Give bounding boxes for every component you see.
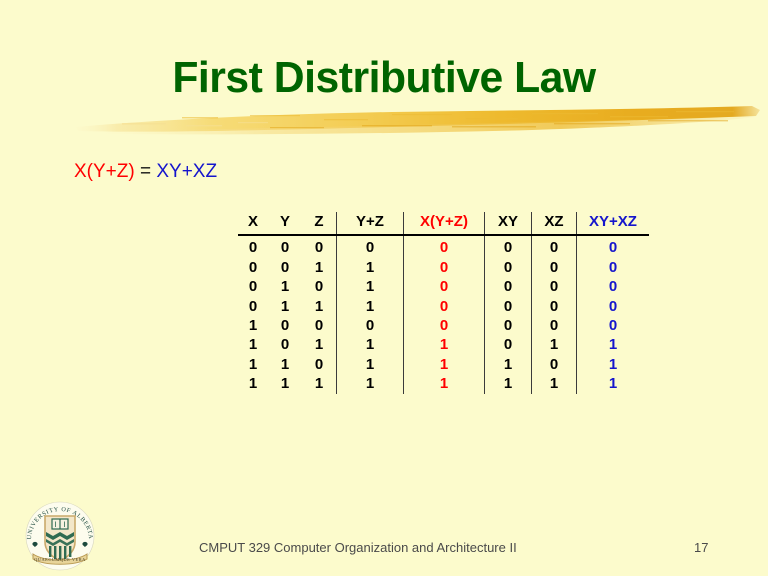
- cell-y-plus-z: 1: [337, 374, 404, 393]
- cell-x: 0: [238, 277, 268, 296]
- cell-xy: 0: [485, 277, 532, 296]
- table-header-row: X Y Z Y+Z X(Y+Z) XY XZ XY+XZ: [238, 212, 649, 235]
- university-of-alberta-crest-icon: UNIVERSITY OF ALBERTA: [19, 500, 101, 572]
- cell-z: 0: [302, 235, 337, 257]
- cell-x: 1: [238, 335, 268, 354]
- cell-xy: 0: [485, 235, 532, 257]
- cell-x: 0: [238, 235, 268, 257]
- title-block: First Distributive Law: [0, 55, 768, 101]
- cell-x: 0: [238, 297, 268, 316]
- cell-xy: 0: [485, 297, 532, 316]
- equation-right-side: XY+XZ: [156, 161, 217, 182]
- table-body: 0000000000110000010100000111000010000000…: [238, 235, 649, 393]
- cell-y-plus-z: 0: [337, 235, 404, 257]
- cell-xy: 0: [485, 316, 532, 335]
- cell-xz: 0: [532, 277, 577, 296]
- cell-y: 1: [268, 297, 302, 316]
- slide-page-number: 17: [694, 540, 708, 555]
- gold-brush-stroke-decoration: [62, 100, 762, 142]
- cell-x: 0: [238, 258, 268, 277]
- cell-xz: 0: [532, 258, 577, 277]
- table-row: 00000000: [238, 235, 649, 257]
- cell-y-plus-z: 1: [337, 277, 404, 296]
- cell-y: 1: [268, 277, 302, 296]
- cell-x-times-y-plus-z: 0: [404, 297, 485, 316]
- table-header-xy-plus-xz: XY+XZ: [577, 212, 650, 235]
- cell-y-plus-z: 0: [337, 316, 404, 335]
- cell-y: 0: [268, 235, 302, 257]
- cell-z: 1: [302, 258, 337, 277]
- table-header-y-plus-z: Y+Z: [337, 212, 404, 235]
- cell-xy-plus-xz: 0: [577, 258, 650, 277]
- cell-x-times-y-plus-z: 0: [404, 258, 485, 277]
- table-header-xz: XZ: [532, 212, 577, 235]
- cell-xy-plus-xz: 0: [577, 297, 650, 316]
- cell-xy: 1: [485, 374, 532, 393]
- table-row: 10111011: [238, 335, 649, 354]
- cell-y: 1: [268, 374, 302, 393]
- cell-xy-plus-xz: 1: [577, 355, 650, 374]
- distributive-law-equation: X(Y+Z) = XY+XZ: [74, 161, 217, 183]
- cell-x-times-y-plus-z: 1: [404, 335, 485, 354]
- cell-xz: 0: [532, 235, 577, 257]
- cell-x: 1: [238, 316, 268, 335]
- table-row: 01010000: [238, 277, 649, 296]
- cell-z: 1: [302, 297, 337, 316]
- cell-xy-plus-xz: 0: [577, 277, 650, 296]
- equation-left-side: X(Y+Z): [74, 161, 135, 182]
- cell-x: 1: [238, 355, 268, 374]
- table-row: 10000000: [238, 316, 649, 335]
- cell-x-times-y-plus-z: 1: [404, 374, 485, 393]
- cell-x-times-y-plus-z: 0: [404, 316, 485, 335]
- cell-xy-plus-xz: 1: [577, 335, 650, 354]
- cell-y: 1: [268, 355, 302, 374]
- table-header-x: X: [238, 212, 268, 235]
- table-row: 01110000: [238, 297, 649, 316]
- page-title: First Distributive Law: [12, 55, 757, 101]
- truth-table: X Y Z Y+Z X(Y+Z) XY XZ XY+XZ 00000000001…: [238, 212, 649, 394]
- cell-z: 0: [302, 355, 337, 374]
- cell-y-plus-z: 1: [337, 258, 404, 277]
- cell-x: 1: [238, 374, 268, 393]
- cell-xy-plus-xz: 0: [577, 235, 650, 257]
- svg-text:QUAECUMQUE VERA: QUAECUMQUE VERA: [34, 557, 86, 562]
- cell-x-times-y-plus-z: 0: [404, 277, 485, 296]
- cell-z: 1: [302, 374, 337, 393]
- cell-xy: 0: [485, 258, 532, 277]
- cell-y-plus-z: 1: [337, 355, 404, 374]
- cell-xz: 1: [532, 335, 577, 354]
- slide-canvas: First Distributive Law X(Y+Z) = XY+XZ X …: [0, 0, 768, 576]
- cell-xz: 0: [532, 316, 577, 335]
- cell-y: 0: [268, 335, 302, 354]
- table-row: 11111111: [238, 374, 649, 393]
- cell-y-plus-z: 1: [337, 297, 404, 316]
- footer-course-label: CMPUT 329 Computer Organization and Arch…: [199, 540, 517, 555]
- equation-operator: =: [135, 161, 157, 182]
- cell-xy: 1: [485, 355, 532, 374]
- cell-z: 0: [302, 316, 337, 335]
- cell-z: 1: [302, 335, 337, 354]
- cell-y-plus-z: 1: [337, 335, 404, 354]
- table-header-xy: XY: [485, 212, 532, 235]
- table-header-y: Y: [268, 212, 302, 235]
- cell-x-times-y-plus-z: 0: [404, 235, 485, 257]
- table-header-z: Z: [302, 212, 337, 235]
- table-header-x-times-y-plus-z: X(Y+Z): [404, 212, 485, 235]
- cell-xz: 0: [532, 355, 577, 374]
- cell-xy: 0: [485, 335, 532, 354]
- table-row: 11011101: [238, 355, 649, 374]
- cell-y: 0: [268, 258, 302, 277]
- table-row: 00110000: [238, 258, 649, 277]
- cell-xz: 0: [532, 297, 577, 316]
- cell-xy-plus-xz: 1: [577, 374, 650, 393]
- cell-x-times-y-plus-z: 1: [404, 355, 485, 374]
- cell-y: 0: [268, 316, 302, 335]
- cell-xz: 1: [532, 374, 577, 393]
- cell-xy-plus-xz: 0: [577, 316, 650, 335]
- cell-z: 0: [302, 277, 337, 296]
